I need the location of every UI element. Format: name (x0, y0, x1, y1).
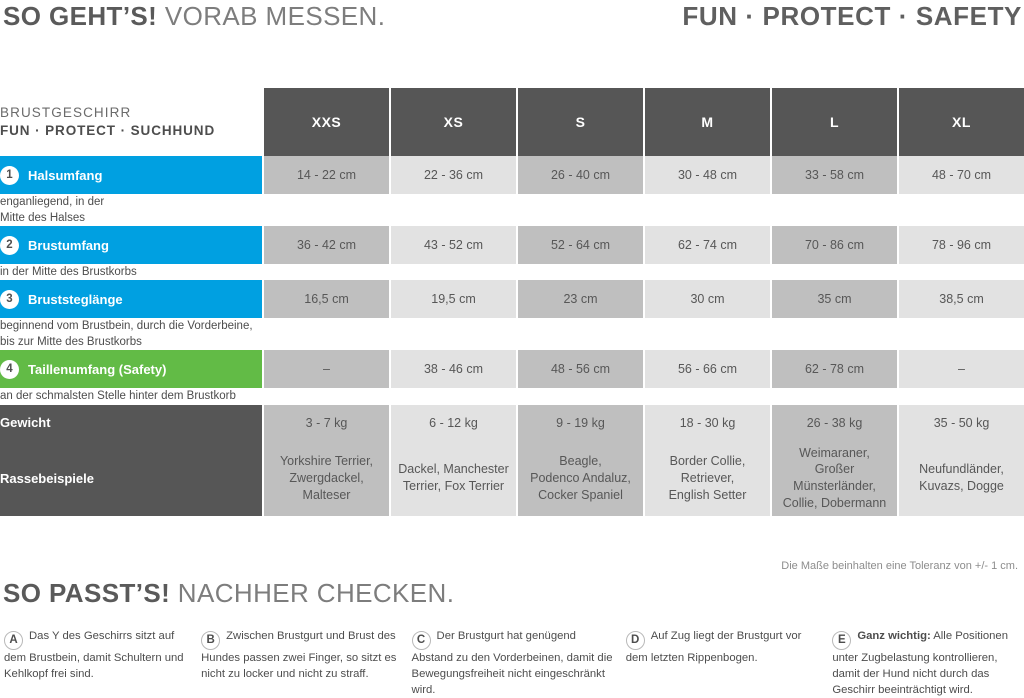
weight-value: 18 - 30 kg (643, 405, 770, 441)
step-badge-2: 2 (0, 236, 19, 255)
page-title-top: SO GEHT’S! VORAB MESSEN. (3, 1, 385, 32)
measure-value: 19,5 cm (389, 280, 516, 318)
measure-label-1: 1Halsumfang (0, 156, 262, 194)
description-spacer (262, 264, 1024, 280)
fitting-tip-b: BZwischen Brustgurt und Brust des Hundes… (201, 628, 411, 698)
tip-text: Zwischen Brustgurt und Brust des Hundes … (201, 630, 396, 680)
fitting-tip-a: ADas Y des Geschirrs sitzt auf dem Brust… (4, 628, 201, 698)
table-corner-cell: BRUSTGESCHIRRFUN · PROTECT · SUCHHUND (0, 88, 262, 156)
breed-value: Yorkshire Terrier,Zwergdackel, Malteser (262, 441, 389, 517)
measure-description: an der schmalsten Stelle hinter dem Brus… (0, 388, 262, 404)
tip-badge-e: E (832, 631, 851, 650)
measure-value: – (262, 350, 389, 388)
measure-value: 35 cm (770, 280, 897, 318)
fitting-tip-e: EGanz wichtig: Alle Positionen unter Zug… (832, 628, 1020, 698)
breed-value: Neufundländer,Kuvazs, Dogge (897, 441, 1024, 517)
size-header-xs[interactable]: XS (389, 88, 516, 156)
breed-value: Border Collie, Retriever,English Setter (643, 441, 770, 517)
description-spacer (262, 194, 1024, 226)
size-header-l[interactable]: L (770, 88, 897, 156)
page-title-bottom-light: NACHHER CHECKEN. (178, 578, 455, 608)
tip-badge-a: A (4, 631, 23, 650)
breed-row: RassebeispieleYorkshire Terrier,Zwergdac… (0, 441, 1024, 517)
measure-value: 78 - 96 cm (897, 226, 1024, 264)
table-row: 1Halsumfang14 - 22 cm22 - 36 cm26 - 40 c… (0, 156, 1024, 194)
description-row: an der schmalsten Stelle hinter dem Brus… (0, 388, 1024, 404)
table-header-row: BRUSTGESCHIRRFUN · PROTECT · SUCHHUNDXXS… (0, 88, 1024, 156)
measure-value: 36 - 42 cm (262, 226, 389, 264)
tip-badge-c: C (412, 631, 431, 650)
tip-lead: Ganz wichtig: (857, 630, 930, 642)
measure-value: 43 - 52 cm (389, 226, 516, 264)
fitting-tips-list: ADas Y des Geschirrs sitzt auf dem Brust… (4, 628, 1020, 698)
tip-text: Ganz wichtig: Alle Positionen unter Zugb… (832, 630, 1008, 696)
measure-description: in der Mitte des Brustkorbs (0, 264, 262, 280)
breed-value: Dackel, ManchesterTerrier, Fox Terrier (389, 441, 516, 517)
tip-badge-d: D (626, 631, 645, 650)
measure-value: 23 cm (516, 280, 643, 318)
weight-value: 35 - 50 kg (897, 405, 1024, 441)
weight-label: Gewicht (0, 405, 262, 441)
table-row: 3Bruststeglänge16,5 cm19,5 cm23 cm30 cm3… (0, 280, 1024, 318)
tip-text: Der Brustgurt hat genügend Abstand zu de… (412, 630, 613, 696)
measure-value: 22 - 36 cm (389, 156, 516, 194)
breed-label: Rassebeispiele (0, 441, 262, 517)
fitting-tip-c: CDer Brustgurt hat genügend Abstand zu d… (412, 628, 626, 698)
page-title-bottom: SO PASST’S! NACHHER CHECKEN. (3, 578, 454, 609)
brand-tagline: FUN · PROTECT · SAFETY (682, 1, 1022, 32)
measure-value: 14 - 22 cm (262, 156, 389, 194)
measure-value: 30 - 48 cm (643, 156, 770, 194)
measure-description: enganliegend, in derMitte des Halses (0, 194, 262, 226)
top-heading-bar: SO GEHT’S! VORAB MESSEN. FUN · PROTECT ·… (0, 0, 1024, 44)
fitting-tip-d: DAuf Zug liegt der Brustgurt vor dem let… (626, 628, 833, 698)
size-header-m[interactable]: M (643, 88, 770, 156)
measure-value: 16,5 cm (262, 280, 389, 318)
description-row: beginnend vom Brustbein, durch die Vorde… (0, 318, 1024, 350)
measure-value: 48 - 56 cm (516, 350, 643, 388)
measure-description: beginnend vom Brustbein, durch die Vorde… (0, 318, 262, 350)
tolerance-note: Die Maße beinhalten eine Toleranz von +/… (781, 560, 1018, 572)
table-row: 4Taillenumfang (Safety)–38 - 46 cm48 - 5… (0, 350, 1024, 388)
measure-label-text: Bruststeglänge (28, 292, 123, 307)
corner-line-2: FUN · PROTECT · SUCHHUND (0, 122, 262, 140)
measure-label-text: Brustumfang (28, 238, 109, 253)
measure-label-2: 2Brustumfang (0, 226, 262, 264)
measure-label-text: Taillenumfang (Safety) (28, 362, 166, 377)
size-header-xxs[interactable]: XXS (262, 88, 389, 156)
weight-value: 26 - 38 kg (770, 405, 897, 441)
weight-value: 9 - 19 kg (516, 405, 643, 441)
weight-value: 6 - 12 kg (389, 405, 516, 441)
size-header-xl[interactable]: XL (897, 88, 1024, 156)
step-badge-3: 3 (0, 290, 19, 309)
corner-line-1: BRUSTGESCHIRR (0, 104, 262, 122)
table-row: 2Brustumfang36 - 42 cm43 - 52 cm52 - 64 … (0, 226, 1024, 264)
description-spacer (262, 318, 1024, 350)
tip-text: Auf Zug liegt der Brustgurt vor dem letz… (626, 630, 802, 664)
measure-value: 70 - 86 cm (770, 226, 897, 264)
size-header-s[interactable]: S (516, 88, 643, 156)
tip-text: Das Y des Geschirrs sitzt auf dem Brustb… (4, 630, 184, 680)
page-title-top-light: VORAB MESSEN. (165, 1, 385, 31)
size-table-container: BRUSTGESCHIRRFUN · PROTECT · SUCHHUNDXXS… (0, 88, 1024, 516)
measure-label-text: Halsumfang (28, 168, 102, 183)
measure-value: 62 - 78 cm (770, 350, 897, 388)
measure-value: 62 - 74 cm (643, 226, 770, 264)
measure-label-3: 3Bruststeglänge (0, 280, 262, 318)
measure-value: – (897, 350, 1024, 388)
weight-row: Gewicht3 - 7 kg6 - 12 kg9 - 19 kg18 - 30… (0, 405, 1024, 441)
breed-value: Weimaraner,Großer Münsterländer,Collie, … (770, 441, 897, 517)
measure-value: 52 - 64 cm (516, 226, 643, 264)
measure-value: 56 - 66 cm (643, 350, 770, 388)
description-row: enganliegend, in derMitte des Halses (0, 194, 1024, 226)
tip-badge-b: B (201, 631, 220, 650)
size-table: BRUSTGESCHIRRFUN · PROTECT · SUCHHUNDXXS… (0, 88, 1024, 516)
page-title-top-strong: SO GEHT’S! (3, 1, 157, 31)
breed-value: Beagle,Podenco Andaluz,Cocker Spaniel (516, 441, 643, 517)
measure-value: 38 - 46 cm (389, 350, 516, 388)
description-spacer (262, 388, 1024, 404)
measure-value: 33 - 58 cm (770, 156, 897, 194)
weight-value: 3 - 7 kg (262, 405, 389, 441)
page-title-bottom-strong: SO PASST’S! (3, 578, 170, 608)
measure-value: 48 - 70 cm (897, 156, 1024, 194)
measure-value: 26 - 40 cm (516, 156, 643, 194)
measure-value: 38,5 cm (897, 280, 1024, 318)
measure-label-4: 4Taillenumfang (Safety) (0, 350, 262, 388)
step-badge-4: 4 (0, 360, 19, 379)
description-row: in der Mitte des Brustkorbs (0, 264, 1024, 280)
measure-value: 30 cm (643, 280, 770, 318)
step-badge-1: 1 (0, 166, 19, 185)
